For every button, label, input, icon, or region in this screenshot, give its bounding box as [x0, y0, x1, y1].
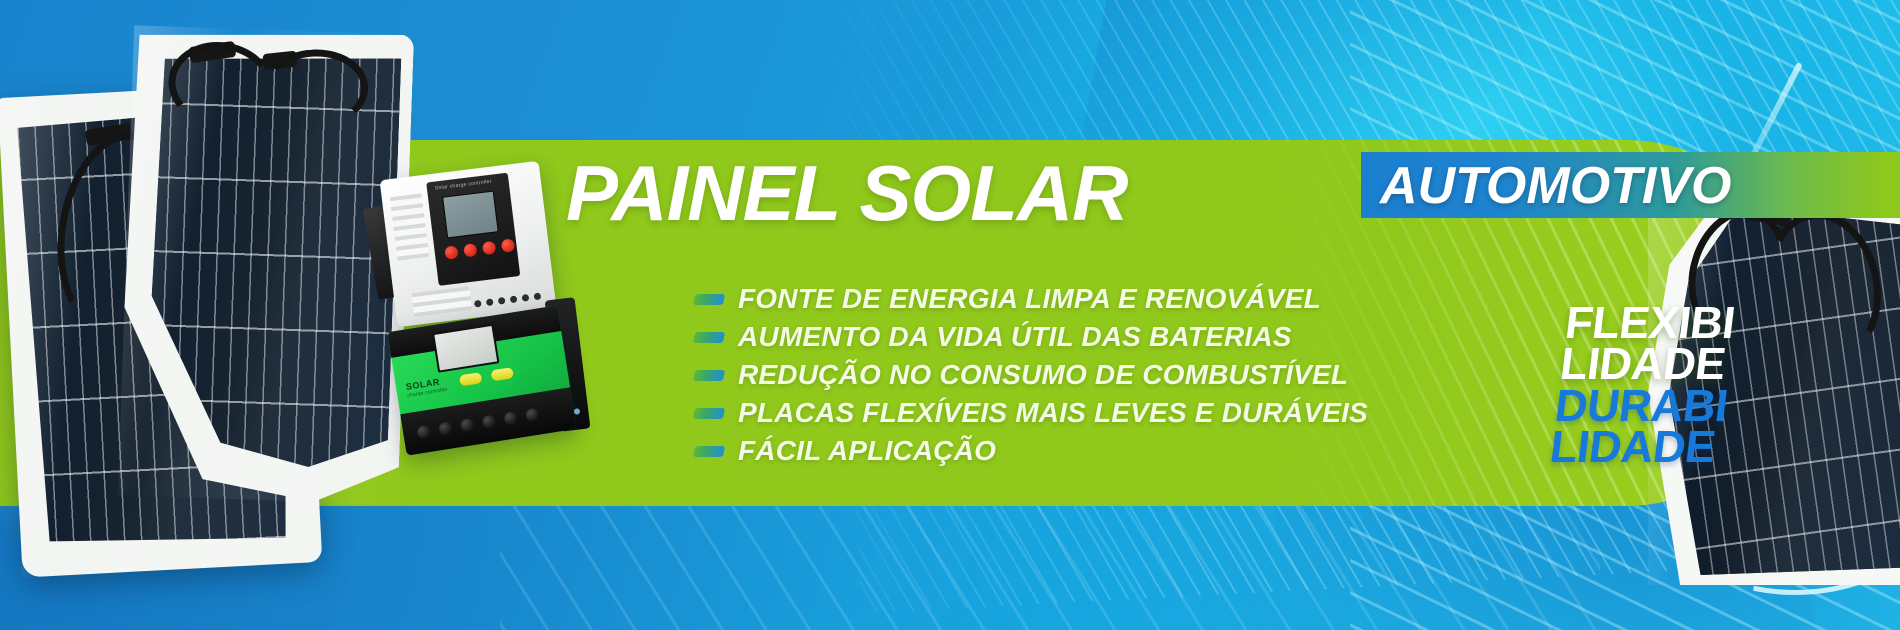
- wordmark-flexibilidade-line1: FLEXIBI: [1563, 302, 1740, 343]
- controller-button-row[interactable]: [444, 238, 515, 259]
- list-item: FÁCIL APLICAÇÃO: [694, 432, 1368, 470]
- list-item: FONTE DE ENERGIA LIMPA E RENOVÁVEL: [694, 280, 1368, 318]
- list-item: AUMENTO DA VIDA ÚTIL DAS BATERIAS: [694, 318, 1368, 356]
- controller-lcd-display: [442, 190, 499, 238]
- benefits-list: FONTE DE ENERGIA LIMPA E RENOVÁVEL AUMEN…: [694, 280, 1368, 470]
- controller-button-2[interactable]: [463, 243, 477, 257]
- wordmark-durabilidade-line2: LIDADE: [1548, 426, 1725, 467]
- list-item-label: REDUÇÃO NO CONSUMO DE COMBUSTÍVEL: [738, 359, 1348, 391]
- dash-bullet-icon: [693, 370, 725, 381]
- controller-faceplate-label: Solar charge controller: [435, 179, 493, 192]
- controller-terminal: [503, 411, 518, 426]
- wordmark-flexibilidade-line2: LIDADE: [1558, 343, 1735, 384]
- controller-terminal: [460, 418, 475, 433]
- automotivo-badge-label: AUTOMOTIVO: [1380, 153, 1731, 219]
- list-item-label: PLACAS FLEXÍVEIS MAIS LEVES E DURÁVEIS: [738, 397, 1368, 429]
- wordmark-durabilidade-line1: DURABI: [1553, 385, 1730, 426]
- headline-group: PAINEL SOLAR: [566, 150, 1134, 236]
- list-item: PLACAS FLEXÍVEIS MAIS LEVES E DURÁVEIS: [694, 394, 1368, 432]
- page-title: PAINEL SOLAR: [566, 154, 1134, 232]
- controller-button-3[interactable]: [482, 241, 496, 255]
- controller-button-4[interactable]: [501, 238, 515, 252]
- controller-port: [486, 298, 494, 306]
- solar-panel-promo-banner: Solar charge controller SOLAR charge con…: [0, 0, 1900, 630]
- controller-terminal: [416, 425, 431, 440]
- list-item-label: AUMENTO DA VIDA ÚTIL DAS BATERIAS: [738, 321, 1292, 353]
- dash-bullet-icon: [693, 294, 725, 305]
- solar-panel-left-front: [118, 25, 414, 504]
- list-item-label: FÁCIL APLICAÇÃO: [738, 435, 996, 467]
- controller-port: [522, 294, 530, 302]
- controller-port: [510, 295, 518, 303]
- controller-port: [498, 297, 506, 305]
- list-item-label: FONTE DE ENERGIA LIMPA E RENOVÁVEL: [738, 283, 1321, 315]
- feature-wordmarks: FLEXIBI LIDADE DURABI LIDADE: [1548, 302, 1740, 468]
- controller-terminal: [525, 408, 540, 423]
- controller-port: [474, 300, 482, 308]
- dash-bullet-icon: [693, 408, 725, 419]
- controller-terminal: [438, 421, 453, 436]
- charge-controller-white: Solar charge controller: [380, 161, 557, 327]
- dash-bullet-icon: [693, 332, 725, 343]
- dash-bullet-icon: [693, 446, 725, 457]
- list-item: REDUÇÃO NO CONSUMO DE COMBUSTÍVEL: [694, 356, 1368, 394]
- charge-controller-green: SOLAR charge controller: [387, 305, 576, 455]
- controller-faceplate: Solar charge controller: [426, 173, 520, 286]
- controller-port: [534, 293, 542, 301]
- controller-terminal: [482, 414, 497, 429]
- controller-button-1[interactable]: [444, 245, 458, 259]
